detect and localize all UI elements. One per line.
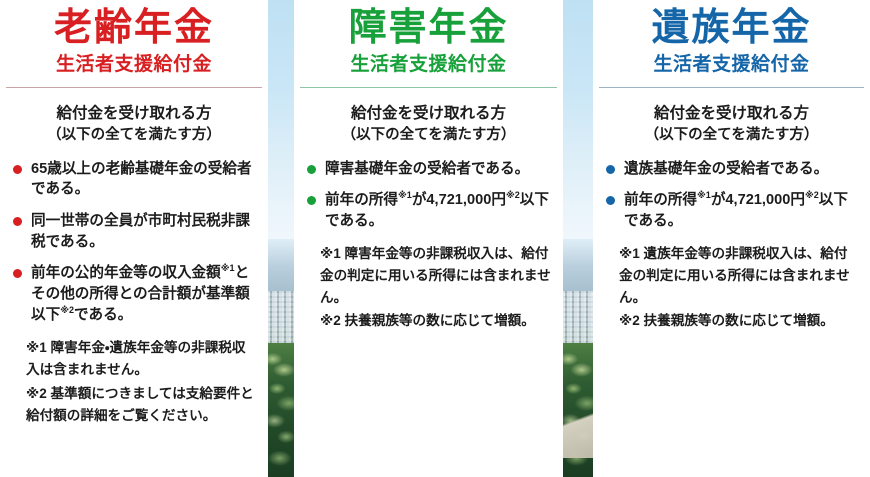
criteria-item: 同一世帯の全員が市町村民税非課税である。 bbox=[12, 211, 256, 252]
criteria-list: 遺族基礎年金の受給者である。 前年の所得※1が4,721,000円※2以下である… bbox=[605, 159, 858, 232]
header-divider bbox=[300, 87, 557, 88]
criteria-text: 前年の所得 bbox=[624, 192, 697, 208]
criteria-item: 65歳以上の老齢基礎年金の受給者である。 bbox=[12, 159, 256, 200]
benefit-card-disability: 障害年金 生活者支援給付金 給付金を受け取れる方 （以下の全てを満たす方） 障害… bbox=[294, 0, 563, 477]
criteria-item: 前年の所得※1が4,721,000円※2以下である。 bbox=[306, 190, 551, 231]
criteria-text-cont: が4,721,000円 bbox=[412, 192, 506, 208]
benefit-columns: 老齢年金 生活者支援給付金 給付金を受け取れる方 （以下の全てを満たす方） 65… bbox=[0, 0, 870, 477]
criteria-text-cont: が4,721,000円 bbox=[711, 192, 805, 208]
footnote-marker-2: ※2 bbox=[60, 305, 74, 315]
eligibility-lead: 給付金を受け取れる方 （以下の全てを満たす方） bbox=[12, 102, 256, 147]
eligibility-lead-line1: 給付金を受け取れる方 bbox=[351, 105, 506, 122]
criteria-text: 前年の所得 bbox=[325, 192, 398, 208]
card-body: 給付金を受け取れる方 （以下の全てを満たす方） 遺族基礎年金の受給者である。 前… bbox=[593, 102, 870, 332]
footnotes: ※1 障害年金等の非課税収入は、給付金の判定に用いる所得には含まれません。 ※2… bbox=[306, 243, 551, 332]
criteria-item: 前年の公的年金等の収入金額※1とその他の所得との合計額が基準額以下※2である。 bbox=[12, 263, 256, 325]
card-subtitle: 生活者支援給付金 bbox=[593, 53, 870, 78]
footnotes: ※1 障害年金・遺族年金等の非課税収入は含まれません。 ※2 基準額につきまして… bbox=[12, 337, 256, 427]
eligibility-lead-line1: 給付金を受け取れる方 bbox=[654, 105, 809, 122]
footnotes: ※1 遺族年金等の非課税収入は、給付金の判定に用いる所得には含まれません。 ※2… bbox=[605, 243, 858, 332]
header-divider bbox=[599, 87, 864, 88]
eligibility-lead-line2: （以下の全てを満たす方） bbox=[605, 125, 858, 147]
criteria-text: 65歳以上の老齢基礎年金の受給者である。 bbox=[31, 161, 252, 198]
card-header: 障害年金 生活者支援給付金 bbox=[294, 0, 563, 78]
footnote-marker-1: ※1 bbox=[697, 190, 711, 200]
footnote-marker-2: ※2 bbox=[506, 190, 520, 200]
card-header: 老齢年金 生活者支援給付金 bbox=[0, 0, 268, 78]
benefit-card-survivor: 遺族年金 生活者支援給付金 給付金を受け取れる方 （以下の全てを満たす方） 遺族… bbox=[593, 0, 870, 477]
criteria-item: 前年の所得※1が4,721,000円※2以下である。 bbox=[605, 190, 858, 231]
criteria-list: 障害基礎年金の受給者である。 前年の所得※1が4,721,000円※2以下である… bbox=[306, 159, 551, 232]
footnote-1: ※1 障害年金等の非課税収入は、給付金の判定に用いる所得には含まれません。 bbox=[320, 243, 551, 309]
footnote-2: ※2 基準額につきましては支給要件と給付額の詳細をご覧ください。 bbox=[26, 383, 256, 427]
column-gap-right bbox=[563, 0, 593, 477]
benefit-card-old-age: 老齢年金 生活者支援給付金 給付金を受け取れる方 （以下の全てを満たす方） 65… bbox=[0, 0, 268, 477]
footnote-1: ※1 障害年金・遺族年金等の非課税収入は含まれません。 bbox=[26, 337, 256, 381]
footnote-marker-1: ※1 bbox=[398, 190, 412, 200]
footnote-1: ※1 遺族年金等の非課税収入は、給付金の判定に用いる所得には含まれません。 bbox=[619, 243, 858, 309]
footnote-marker-2: ※2 bbox=[805, 190, 819, 200]
eligibility-lead: 給付金を受け取れる方 （以下の全てを満たす方） bbox=[605, 102, 858, 147]
criteria-text: 遺族基礎年金の受給者である。 bbox=[624, 161, 828, 177]
card-body: 給付金を受け取れる方 （以下の全てを満たす方） 障害基礎年金の受給者である。 前… bbox=[294, 102, 563, 332]
card-title: 老齢年金 bbox=[0, 6, 268, 51]
eligibility-lead-line2: （以下の全てを満たす方） bbox=[12, 125, 256, 147]
footnote-2: ※2 扶養親族等の数に応じて増額。 bbox=[320, 310, 551, 332]
card-header: 遺族年金 生活者支援給付金 bbox=[593, 0, 870, 78]
footnote-2: ※2 扶養親族等の数に応じて増額。 bbox=[619, 310, 858, 332]
criteria-list: 65歳以上の老齢基礎年金の受給者である。 同一世帯の全員が市町村民税非課税である… bbox=[12, 159, 256, 326]
criteria-item: 遺族基礎年金の受給者である。 bbox=[605, 159, 858, 180]
criteria-text-end: である。 bbox=[74, 307, 132, 323]
criteria-text: 障害基礎年金の受給者である。 bbox=[325, 161, 529, 177]
card-subtitle: 生活者支援給付金 bbox=[0, 53, 268, 78]
eligibility-lead-line1: 給付金を受け取れる方 bbox=[56, 105, 211, 122]
header-divider bbox=[6, 87, 262, 88]
eligibility-lead-line2: （以下の全てを満たす方） bbox=[306, 125, 551, 147]
criteria-item: 障害基礎年金の受給者である。 bbox=[306, 159, 551, 180]
card-title: 障害年金 bbox=[294, 6, 563, 51]
footnote-marker-1: ※1 bbox=[221, 264, 235, 274]
card-title: 遺族年金 bbox=[593, 6, 870, 51]
card-body: 給付金を受け取れる方 （以下の全てを満たす方） 65歳以上の老齢基礎年金の受給者… bbox=[0, 102, 268, 427]
pension-benefit-poster: 老齢年金 生活者支援給付金 給付金を受け取れる方 （以下の全てを満たす方） 65… bbox=[0, 0, 870, 477]
card-subtitle: 生活者支援給付金 bbox=[294, 53, 563, 78]
column-gap-left bbox=[268, 0, 294, 477]
criteria-text: 同一世帯の全員が市町村民税非課税である。 bbox=[31, 213, 250, 250]
criteria-text: 前年の公的年金等の収入金額 bbox=[31, 265, 221, 281]
eligibility-lead: 給付金を受け取れる方 （以下の全てを満たす方） bbox=[306, 102, 551, 147]
